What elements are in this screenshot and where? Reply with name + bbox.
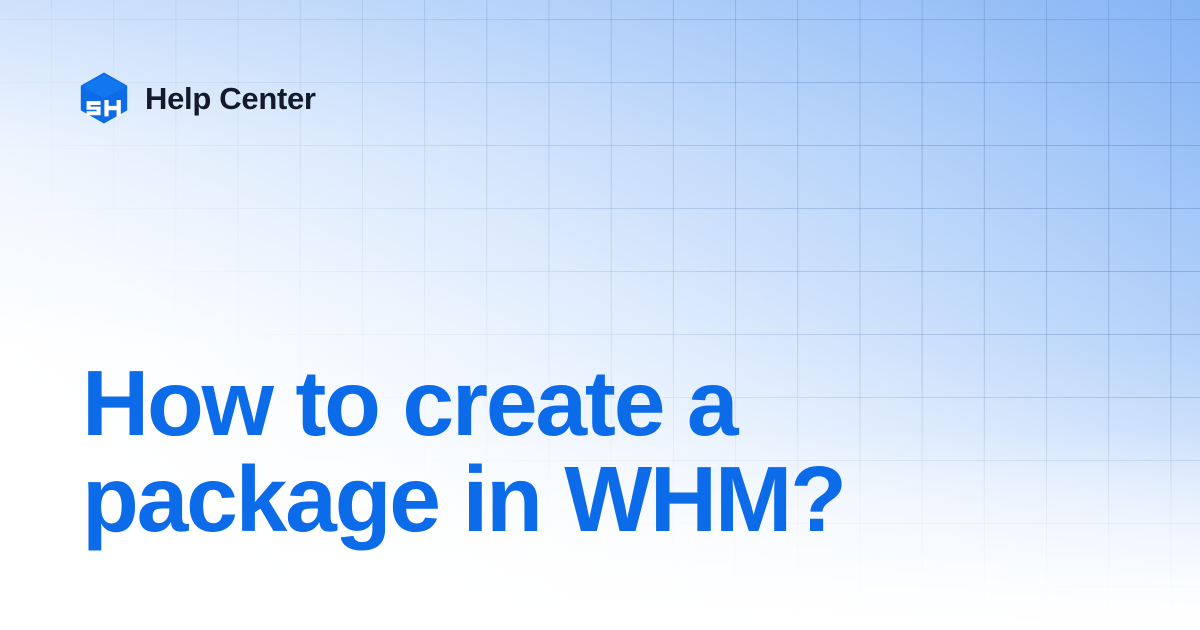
page-title-line-2: package in WHM? [82,451,1082,547]
brand-name: Help Center [145,83,316,114]
page-title: How to create a package in WHM? [82,355,1082,547]
brand-lockup[interactable]: Help Center [80,72,316,124]
sh-cube-logo-icon [80,72,128,124]
page-title-line-1: How to create a [82,355,1082,451]
og-card: Help Center How to create a package in W… [0,0,1200,630]
